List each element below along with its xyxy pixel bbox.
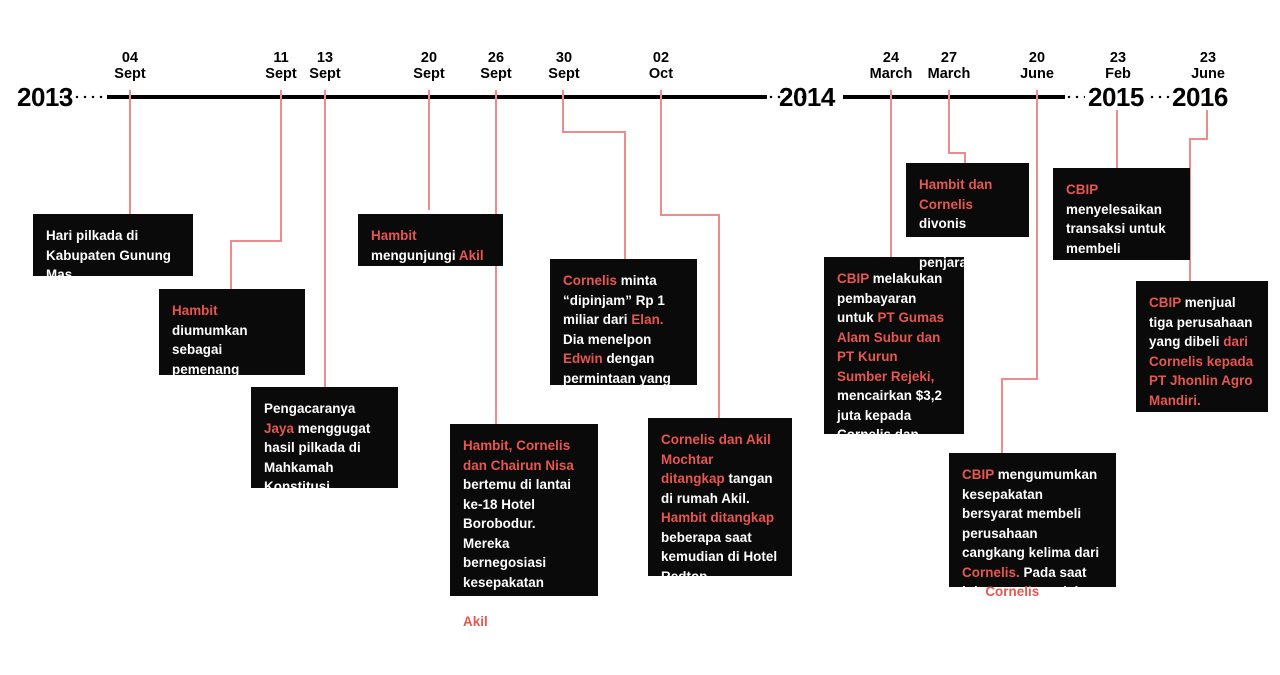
connector-20-june-jog [1001, 378, 1038, 380]
tick-month: Sept [290, 66, 360, 82]
event-text: Hambit, Cornelis dan Chairun Nisa bertem… [463, 436, 585, 631]
tick-month: Oct [626, 66, 696, 82]
tick-day: 23 [1083, 50, 1153, 66]
tick-13-sept: 13 Sept [290, 50, 360, 82]
event-text: Cornelis minta “dipinjam” Rp 1 miliar da… [563, 271, 684, 408]
connector-30-sept-lower [624, 131, 626, 260]
connector-02-oct-jog [660, 214, 720, 216]
timeline-infographic: 2013 2014 2015 2016 04 Sept 11 Sept 13 S… [0, 0, 1280, 675]
connector-20-sept [428, 90, 430, 210]
tick-month: Feb [1083, 66, 1153, 82]
event-card-30-sept[interactable]: Cornelis minta “dipinjam” Rp 1 miliar da… [550, 259, 697, 385]
event-card-24-march[interactable]: CBIP melakukan pembayaran untuk PT Gumas… [824, 257, 964, 434]
tick-month: Sept [529, 66, 599, 82]
connector-23-june-jog [1189, 138, 1208, 140]
tick-23-june: 23 June [1173, 50, 1243, 82]
tick-day: 26 [461, 50, 531, 66]
event-text: CBIP melakukan pembayaran untuk PT Gumas… [837, 269, 951, 464]
tick-day: 02 [626, 50, 696, 66]
event-card-23-feb[interactable]: CBIP menyelesaikan transaksi untuk membe… [1053, 168, 1190, 260]
event-text: Hambit mengunjungi Akil di rumahnya. [371, 226, 490, 285]
axis-dots-2015-2016 [1148, 95, 1170, 99]
tick-month: June [1002, 66, 1072, 82]
tick-day: 27 [914, 50, 984, 66]
year-label-2016: 2016 [1172, 84, 1228, 110]
connector-13-sept [324, 90, 326, 388]
connector-02-oct-lower [718, 214, 720, 419]
tick-20-june: 20 June [1002, 50, 1072, 82]
axis-dots-2014-start [843, 95, 879, 99]
axis-dots-2014-2015 [1065, 95, 1085, 99]
tick-04-sept: 04 Sept [95, 50, 165, 82]
tick-02-oct: 02 Oct [626, 50, 696, 82]
event-card-20-sept[interactable]: Hambit mengunjungi Akil di rumahnya. [358, 214, 503, 266]
connector-11-sept-jog [230, 240, 282, 242]
tick-day: 20 [394, 50, 464, 66]
event-text: Hambit dan Cornelis divonis hukuman penj… [919, 175, 1016, 273]
tick-20-sept: 20 Sept [394, 50, 464, 82]
event-text: Cornelis dan Akil Mochtar ditangkap tang… [661, 430, 779, 586]
event-card-13-sept[interactable]: Pengacaranya Jaya menggugat hasil pilkad… [251, 387, 398, 488]
tick-month: March [914, 66, 984, 82]
tick-30-sept: 30 Sept [529, 50, 599, 82]
axis-segment-2013 [107, 95, 767, 99]
tick-day: 30 [529, 50, 599, 66]
tick-day: 13 [290, 50, 360, 66]
year-label-2015: 2015 [1088, 84, 1144, 110]
event-card-04-sept[interactable]: Hari pilkada di Kabupaten Gunung Mas. [33, 214, 193, 276]
connector-02-oct-upper [660, 90, 662, 216]
event-card-23-june[interactable]: CBIP menjual tiga perusahaan yang dibeli… [1136, 281, 1268, 412]
event-text: CBIP mengumumkan kesepakatan bersyarat m… [962, 465, 1103, 641]
tick-23-feb: 23 Feb [1083, 50, 1153, 82]
connector-04-sept [129, 90, 131, 215]
event-card-02-oct[interactable]: Cornelis dan Akil Mochtar ditangkap tang… [648, 418, 792, 576]
connector-20-june-upper [1036, 90, 1038, 380]
event-card-11-sept[interactable]: Hambit diumumkan sebagai pemenang pilkad… [159, 289, 305, 375]
event-text: Pengacaranya Jaya menggugat hasil pilkad… [264, 399, 385, 497]
tick-26-sept: 26 Sept [461, 50, 531, 82]
tick-day: 20 [1002, 50, 1072, 66]
tick-month: June [1173, 66, 1243, 82]
tick-day: 23 [1173, 50, 1243, 66]
tick-month: Sept [95, 66, 165, 82]
connector-11-sept-lower [230, 240, 232, 290]
event-card-20-june[interactable]: CBIP mengumumkan kesepakatan bersyarat m… [949, 453, 1116, 587]
connector-24-march [890, 90, 892, 258]
event-card-27-march[interactable]: Hambit dan Cornelis divonis hukuman penj… [906, 163, 1029, 237]
connector-23-june-upper [1206, 110, 1208, 140]
tick-day: 04 [95, 50, 165, 66]
connector-30-sept-jog [562, 131, 626, 133]
year-label-2013: 2013 [17, 84, 73, 110]
connector-30-sept-upper [562, 90, 564, 133]
event-text: CBIP menjual tiga perusahaan yang dibeli… [1149, 293, 1255, 410]
connector-23-feb [1116, 110, 1118, 170]
connector-11-sept-upper [280, 90, 282, 240]
year-label-2014: 2014 [779, 84, 835, 110]
event-card-26-sept[interactable]: Hambit, Cornelis dan Chairun Nisa bertem… [450, 424, 598, 596]
connector-20-june-lower [1001, 378, 1003, 455]
tick-month: Sept [394, 66, 464, 82]
connector-27-march-upper [948, 90, 950, 154]
event-text: Hari pilkada di Kabupaten Gunung Mas. [46, 226, 180, 285]
event-text: Hambit diumumkan sebagai pemenang pilkad… [172, 301, 292, 399]
tick-month: Sept [461, 66, 531, 82]
tick-27-march: 27 March [914, 50, 984, 82]
